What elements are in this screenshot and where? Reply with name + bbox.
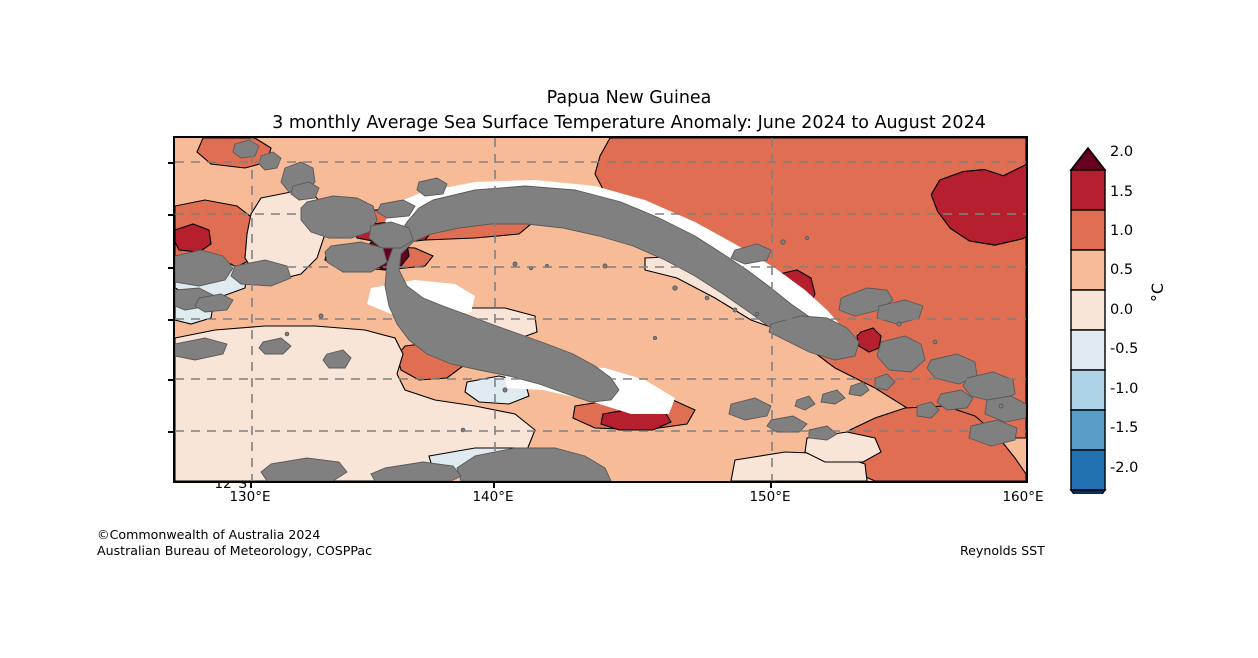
x-tick-label-150E: 150°E [749,489,790,505]
colorbar-over-arrow [1071,148,1105,170]
title-line-description: 3 monthly Average Sea Surface Temperatur… [0,111,1258,136]
colorbar-band-1.5-2.0 [1071,170,1105,210]
colorbar-band-0.5-1.0 [1071,250,1105,290]
map-frame [173,136,1028,483]
footer-copyright: ©Commonwealth of Australia 2024 [97,527,372,543]
colorbar-tick--1.0: -1.0 [1110,381,1138,397]
x-tick-label-130E: 130°E [229,489,270,505]
colorbar-under-arrow [1071,490,1105,494]
colorbar-tick--0.5: -0.5 [1110,341,1138,357]
colorbar-band--0.5-0.0 [1071,330,1105,370]
colorbar-band--1.0--0.5 [1071,370,1105,410]
colorbar-tick--2.0: -2.0 [1110,460,1138,476]
x-tick-label-160E: 160°E [1002,489,1043,505]
colorbar-tick-0.5: 0.5 [1110,262,1133,278]
x-tick-mark-130E [250,483,252,488]
colorbar-tick-1.0: 1.0 [1110,223,1133,239]
page-title: Papua New Guinea 3 monthly Average Sea S… [0,86,1258,136]
colorbar-band-1.0-1.5 [1071,210,1105,250]
footer-attribution: ©Commonwealth of Australia 2024 Australi… [97,527,372,558]
title-line-region: Papua New Guinea [0,86,1258,111]
sst-anomaly-map [175,138,1026,481]
x-tick-label-140E: 140°E [472,489,513,505]
colorbar-unit-label: °C [1148,283,1167,302]
sst-anomaly-figure: Papua New Guinea 3 monthly Average Sea S… [0,0,1258,658]
colorbar-tick-0.0: 0.0 [1110,302,1133,318]
colorbar-tick-1.5: 1.5 [1110,184,1133,200]
colorbar-tick--1.5: -1.5 [1110,420,1138,436]
colorbar-band-0.0-0.5 [1071,290,1105,330]
x-tick-mark-140E [493,483,495,488]
x-tick-mark-150E [770,483,772,488]
colorbar-band--2.0--1.5 [1071,450,1105,490]
footer-agency: Australian Bureau of Meteorology, COSPPa… [97,543,372,559]
colorbar-band--1.5--1.0 [1071,410,1105,450]
footer-data-source: Reynolds SST [960,543,1045,558]
colorbar-tick-2.0: 2.0 [1110,144,1133,160]
map-container [173,136,1028,483]
